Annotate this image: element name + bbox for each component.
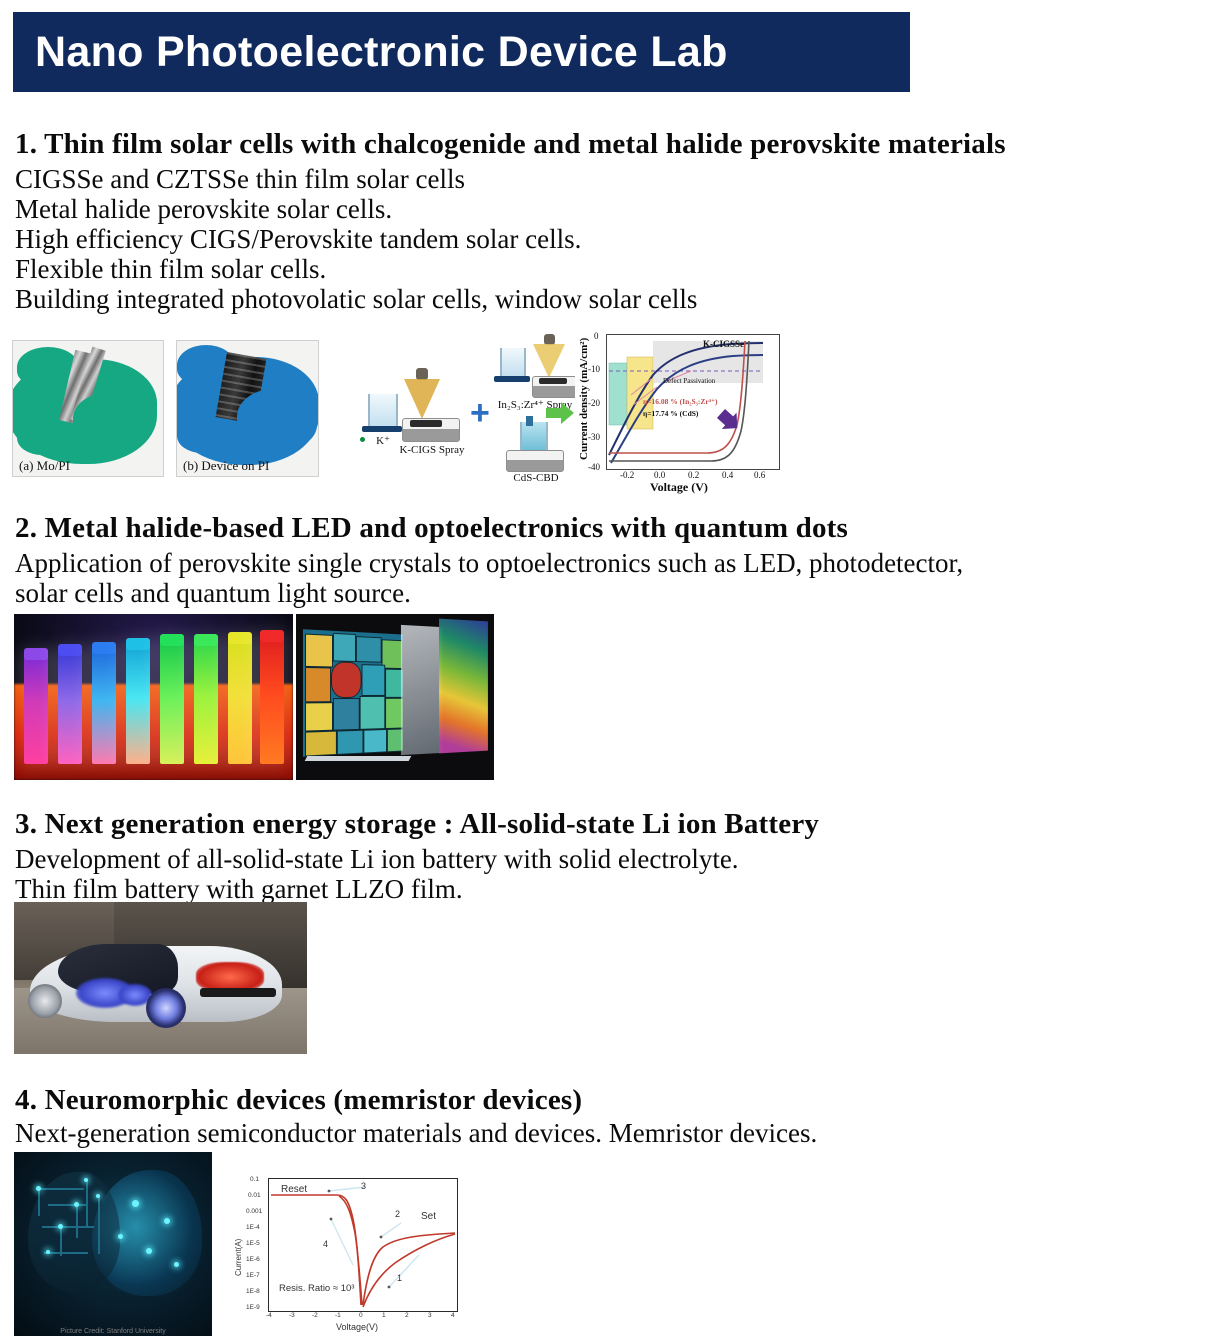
jv-xtick-2: 0.2 bbox=[688, 470, 699, 480]
qd-photo bbox=[14, 614, 293, 780]
mem-xtick-7: 3 bbox=[428, 1312, 432, 1319]
section-3-heading: 3. Next generation energy storage : All-… bbox=[15, 808, 819, 841]
figure-spray-schematic: K⁺ K-CIGS Spray + In₂S₃:Zr⁴⁺ Spray CdS-C… bbox=[350, 332, 575, 492]
mem-xtick-8: 4 bbox=[451, 1312, 455, 1319]
green-arrow-icon bbox=[546, 402, 574, 429]
mem-ytick-4: 1E-5 bbox=[246, 1240, 260, 1247]
jv-ytick-1: -10 bbox=[588, 364, 600, 374]
jv-xtick-3: 0.4 bbox=[722, 470, 733, 480]
jv-xtick-4: 0.6 bbox=[754, 470, 765, 480]
hotplate-substrate-1 bbox=[410, 420, 442, 427]
vial-cap-4 bbox=[126, 638, 150, 650]
vial-6 bbox=[194, 640, 218, 764]
mem-ytick-3: 1E-4 bbox=[246, 1224, 260, 1231]
mem-xtick-1: -3 bbox=[289, 1312, 295, 1319]
jv-xtick-1: 0.0 bbox=[654, 470, 665, 480]
spectrum-backlight-panel bbox=[439, 619, 488, 754]
vial-7 bbox=[228, 638, 252, 764]
mem-ytick-1: 0.01 bbox=[248, 1192, 261, 1199]
mem-ytick-8: 1E-9 bbox=[246, 1304, 260, 1311]
section-2-heading: 2. Metal halide-based LED and optoelectr… bbox=[15, 512, 848, 545]
car-wheel-rear bbox=[146, 988, 186, 1028]
section-2-line-1: Application of perovskite single crystal… bbox=[15, 548, 963, 579]
mem-x-axis-label: Voltage(V) bbox=[336, 1322, 378, 1332]
vial-cap-3 bbox=[92, 642, 116, 654]
qled-diagram bbox=[296, 614, 494, 780]
jv-ytick-3: -30 bbox=[588, 432, 600, 442]
vial-8 bbox=[260, 636, 284, 764]
brain-circuit-half bbox=[28, 1172, 120, 1292]
mem-xtick-4: 0 bbox=[359, 1312, 363, 1319]
figure-mo-on-pi: (a) Mo/PI bbox=[12, 340, 164, 477]
label-k-cigs-spray: K-CIGS Spray bbox=[386, 444, 478, 456]
mem-ytick-0: 0.1 bbox=[250, 1176, 259, 1183]
vial-cap-7 bbox=[228, 632, 252, 644]
beaker-base-1 bbox=[362, 426, 402, 432]
figure-concept-car bbox=[14, 902, 307, 1054]
mem-plot-area: Reset Set Resis. Ratio ≈ 10³ 1 2 3 4 bbox=[268, 1178, 458, 1312]
mem-annotation-set: Set bbox=[421, 1211, 436, 1222]
spray-cone-2 bbox=[533, 344, 565, 378]
vial-cap-2 bbox=[58, 644, 82, 656]
car-wheel-front bbox=[28, 984, 62, 1018]
hotplate-substrate-2 bbox=[539, 378, 567, 384]
section-1-heading: 1. Thin film solar cells with chalcogeni… bbox=[15, 128, 1006, 161]
mem-ytick-2: 0.001 bbox=[246, 1208, 262, 1215]
page-title: Nano Photoelectronic Device Lab bbox=[13, 28, 728, 77]
figure-device-on-pi: (b) Device on PI bbox=[176, 340, 319, 477]
mem-xtick-2: -2 bbox=[312, 1312, 318, 1319]
vial-3 bbox=[92, 648, 116, 764]
jv-ytick-4: -40 bbox=[588, 462, 600, 472]
mem-xtick-3: -1 bbox=[335, 1312, 341, 1319]
jv-annotation-eff-cds: η=17.74 % (CdS) bbox=[643, 409, 698, 418]
mem-ytick-7: 1E-8 bbox=[246, 1288, 260, 1295]
mem-branch-label-3: 3 bbox=[361, 1181, 366, 1191]
mem-xtick-5: 1 bbox=[382, 1312, 386, 1319]
vial-1 bbox=[24, 654, 48, 764]
figure-qled-panels bbox=[296, 614, 494, 780]
mem-annotation-reset: Reset bbox=[281, 1184, 307, 1195]
mem-branch-label-4: 4 bbox=[323, 1239, 328, 1249]
vial-cap-6 bbox=[194, 634, 218, 646]
mem-branch-label-2: 2 bbox=[395, 1209, 400, 1219]
beaker-base-2 bbox=[494, 376, 530, 382]
vial-cap-8 bbox=[260, 630, 284, 642]
mem-y-axis-label: Current(A) bbox=[234, 1206, 243, 1276]
jv-annotation-material: K-CIGSSe bbox=[703, 339, 744, 349]
section-1-line-1: CIGSSe and CZTSSe thin film solar cells bbox=[15, 164, 465, 195]
beaker-k-cigs bbox=[368, 394, 398, 428]
concept-car-photo bbox=[14, 902, 307, 1054]
brain-photo: Picture Credit: Stanford University bbox=[14, 1152, 212, 1336]
cds-stirrer bbox=[526, 416, 533, 426]
vial-cap-5 bbox=[160, 634, 184, 646]
jv-ytick-2: -20 bbox=[588, 398, 600, 408]
jv-xtick-0: -0.2 bbox=[620, 470, 634, 480]
section-4-heading: 4. Neuromorphic devices (memristor devic… bbox=[15, 1084, 582, 1117]
hotplate-3 bbox=[506, 450, 564, 472]
figure-caption-a: (a) Mo/PI bbox=[19, 458, 70, 474]
section-3-line-1: Development of all-solid-state Li ion ba… bbox=[15, 844, 739, 875]
mem-ytick-6: 1E-7 bbox=[246, 1272, 260, 1279]
vial-4 bbox=[126, 644, 150, 764]
jv-plot-area: K-CIGSSe Defect Passivation η=16.08 % (I… bbox=[606, 334, 780, 470]
jv-chart-canvas: Current density (mA/cm²) 0 -10 -20 -30 -… bbox=[576, 326, 786, 498]
section-1-line-5: Building integrated photovolatic solar c… bbox=[15, 284, 697, 315]
jv-annotation-eff-in2s3: η=16.08 % (In₂S₃:Zr⁴⁺) bbox=[643, 397, 717, 406]
panel-stand bbox=[305, 756, 412, 761]
jv-annotation-passivation: Defect Passivation bbox=[663, 377, 715, 385]
spray-cone-1 bbox=[404, 379, 440, 419]
vial-5 bbox=[160, 640, 184, 764]
vial-cap-1 bbox=[24, 648, 48, 660]
section-4-line-1: Next-generation semiconductor materials … bbox=[15, 1118, 817, 1149]
jv-x-axis-label: Voltage (V) bbox=[650, 480, 708, 495]
mem-xtick-6: 2 bbox=[405, 1312, 409, 1319]
poster-page: Nano Photoelectronic Device Lab 1. Thin … bbox=[0, 0, 1207, 1338]
brain-photo-credit: Picture Credit: Stanford University bbox=[14, 1328, 212, 1335]
spray-schematic-canvas: K⁺ K-CIGS Spray + In₂S₃:Zr⁴⁺ Spray CdS-C… bbox=[350, 332, 575, 492]
section-1-line-3: High efficiency CIGS/Perovskite tandem s… bbox=[15, 224, 581, 255]
memristor-chart-canvas: Current(A) 0.1 0.01 0.001 1E-4 1E-5 1E-6… bbox=[232, 1152, 472, 1336]
figure-caption-b: (b) Device on PI bbox=[183, 458, 269, 474]
section-3-line-2: Thin film battery with garnet LLZO film. bbox=[15, 874, 463, 905]
figure-memristor-iv: Current(A) 0.1 0.01 0.001 1E-4 1E-5 1E-6… bbox=[232, 1152, 472, 1336]
mosaic-image-panel bbox=[303, 629, 403, 757]
beaker-in2s3 bbox=[500, 348, 526, 378]
vial-2 bbox=[58, 650, 82, 764]
header-banner: Nano Photoelectronic Device Lab bbox=[13, 12, 910, 92]
mem-branch-label-1: 1 bbox=[397, 1273, 402, 1283]
figure-qd-vials bbox=[14, 614, 293, 780]
section-1-line-4: Flexible thin film solar cells. bbox=[15, 254, 326, 285]
figure-jv-chart: Current density (mA/cm²) 0 -10 -20 -30 -… bbox=[576, 326, 786, 498]
figure-neuromorphic-brain: Picture Credit: Stanford University bbox=[14, 1152, 212, 1336]
k-ion-dot bbox=[360, 437, 365, 442]
mem-ytick-5: 1E-6 bbox=[246, 1256, 260, 1263]
section-1-line-2: Metal halide perovskite solar cells. bbox=[15, 194, 392, 225]
glove-photo-green: (a) Mo/PI bbox=[13, 341, 163, 476]
diffuser-panel bbox=[401, 625, 442, 755]
mem-annotation-ratio: Resis. Ratio ≈ 10³ bbox=[279, 1283, 354, 1294]
mem-xtick-0: -4 bbox=[266, 1312, 272, 1319]
jv-ytick-0: 0 bbox=[594, 331, 599, 341]
section-2-line-2: solar cells and quantum light source. bbox=[15, 578, 411, 609]
car-rear-bumper-strip bbox=[200, 988, 276, 997]
label-cds-cbd: CdS-CBD bbox=[490, 472, 575, 484]
glove-photo-blue: (b) Device on PI bbox=[177, 341, 318, 476]
